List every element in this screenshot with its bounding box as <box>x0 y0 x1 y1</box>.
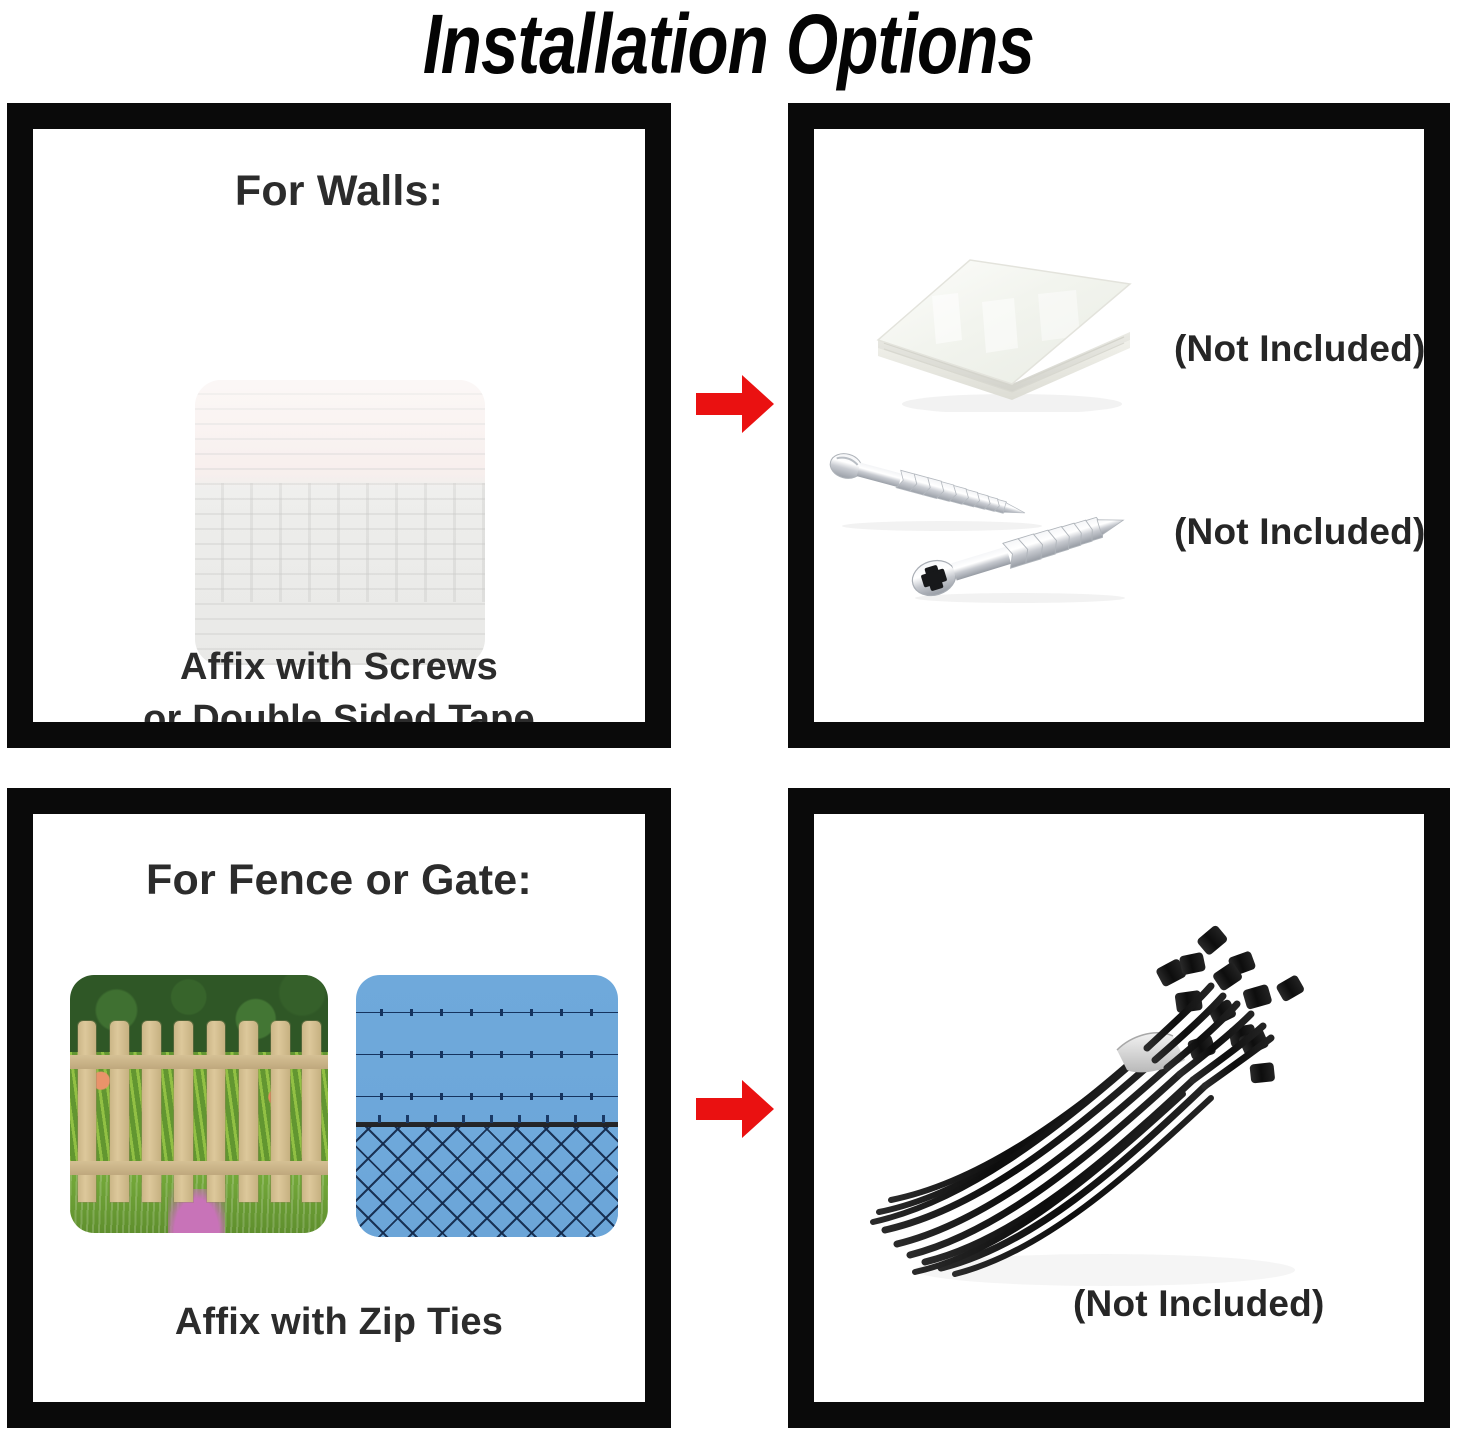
zip-ties-not-included-label: (Not Included) <box>1073 1283 1324 1325</box>
red-right-arrow-icon <box>694 1077 776 1141</box>
wooden-picket-fence-image <box>70 975 328 1233</box>
barbed-wire-strand-2 <box>356 1051 618 1058</box>
red-right-arrow-icon <box>694 372 776 436</box>
black-zip-ties-bundle-image <box>855 910 1335 1310</box>
silver-wood-screw-lower-image <box>900 512 1148 604</box>
for-fence-heading: For Fence or Gate: <box>7 856 671 905</box>
panel-for-walls-inner: For Walls: Affix with Screws or Double S… <box>33 129 645 722</box>
chain-link-mesh <box>356 1127 618 1237</box>
tape-not-included-label: (Not Included) <box>1174 328 1425 370</box>
panel-wall-hardware-inner <box>814 129 1424 722</box>
double-sided-tape-stack-image <box>862 236 1144 412</box>
for-fence-caption: Affix with Zip Ties <box>7 1296 671 1348</box>
for-walls-caption-line1: Affix with Screws <box>180 646 498 688</box>
chain-link-barbed-wire-fence-image <box>356 975 618 1237</box>
for-walls-caption-line2: or Double Sided Tape <box>143 698 535 722</box>
white-brick-wall-image <box>195 380 485 665</box>
barbed-wire-strand-1 <box>356 1009 618 1016</box>
barbed-wire-strand-3 <box>356 1093 618 1100</box>
page-title: Installation Options <box>146 0 1312 92</box>
for-walls-caption: Affix with Screws or Double Sided Tape <box>33 641 645 722</box>
fence-pickets <box>70 975 328 1233</box>
for-walls-heading: For Walls: <box>33 167 645 216</box>
brick-highlight <box>195 380 485 665</box>
screws-not-included-label: (Not Included) <box>1174 511 1425 553</box>
panel-wall-hardware <box>788 103 1450 748</box>
panel-for-walls: For Walls: Affix with Screws or Double S… <box>7 103 671 748</box>
